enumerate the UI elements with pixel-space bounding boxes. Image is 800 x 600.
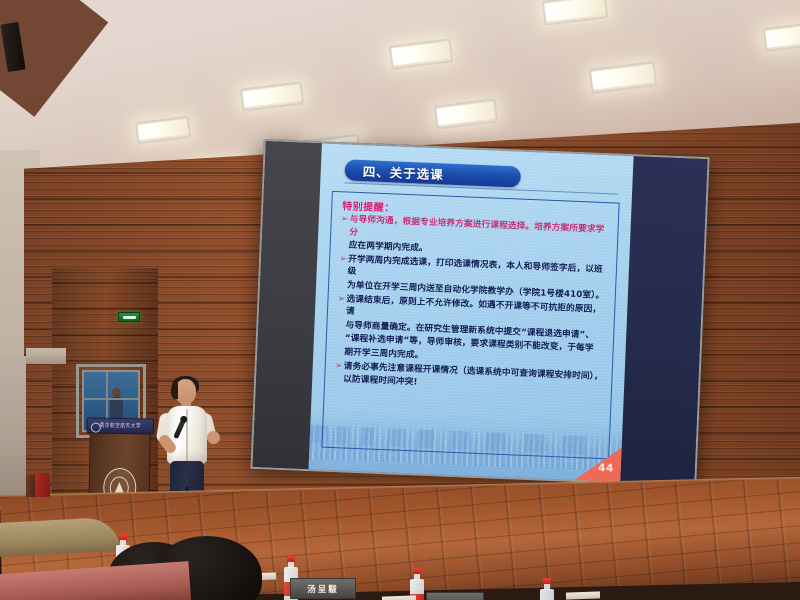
screen-right-band bbox=[620, 156, 707, 485]
bullet-marker-icon: ➢ bbox=[336, 293, 346, 305]
slide-page-number: 44 bbox=[598, 462, 614, 475]
slide-body-box: 特别提醒： ➢ 与导师沟通，根据专业培养方案进行课程选择。培养方案所要求学分 应… bbox=[321, 191, 619, 460]
seat-nameplate bbox=[426, 592, 484, 600]
presentation-slide: 四、关于选课 特别提醒： ➢ 与导师沟通，根据专业培养方案进行课程选择。培养方案… bbox=[309, 143, 634, 482]
paper-slip bbox=[566, 591, 600, 599]
slide-title-text: 四、关于选课 bbox=[344, 160, 444, 183]
bullet-marker-icon: ➢ bbox=[340, 213, 350, 225]
nameplate-text: 汤呈黻 bbox=[307, 583, 339, 595]
presenter-hair-side bbox=[171, 383, 178, 399]
water-bottle bbox=[540, 578, 554, 600]
exit-sign-icon bbox=[118, 312, 140, 322]
wall-trim-strip bbox=[26, 348, 66, 364]
bullet-marker-icon: ➢ bbox=[334, 360, 344, 372]
bullet-marker-icon: ➢ bbox=[338, 253, 348, 265]
floor-bin bbox=[34, 473, 50, 497]
stage-step bbox=[0, 517, 121, 558]
wall-trim-strip bbox=[0, 356, 26, 506]
projection-screen: 四、关于选课 特别提醒： ➢ 与导师沟通，根据专业培养方案进行课程选择。培养方案… bbox=[250, 139, 709, 487]
seat-nameplate: 汤呈黻 bbox=[290, 578, 356, 599]
paper-slip bbox=[382, 595, 416, 600]
lecture-hall-photo: 四、关于选课 特别提醒： ➢ 与导师沟通，根据专业培养方案进行课程选择。培养方案… bbox=[0, 0, 800, 600]
podium-sign-text: 南京航空航天大学 bbox=[100, 422, 142, 430]
